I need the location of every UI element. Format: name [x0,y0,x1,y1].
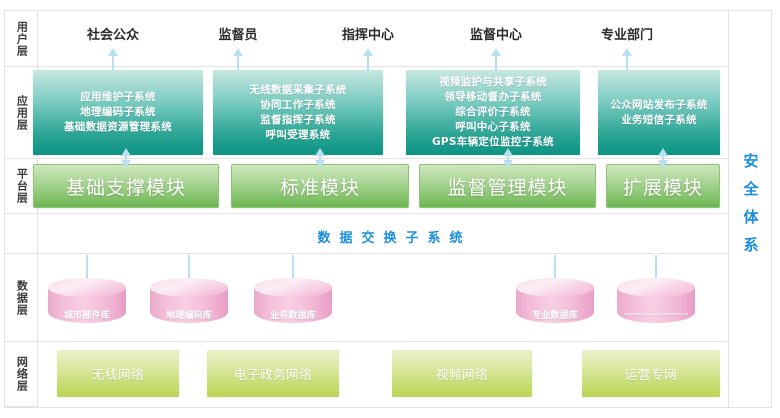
database-cylinder-3[interactable]: 专业数据库 [516,278,594,328]
application-subsystem: 呼叫中心子系统 [432,120,554,135]
application-subsystem: 地理编码子系统 [64,105,172,120]
application-subsystem: 视频监护与共享子系统 [432,75,554,90]
platform-module-label: 监督管理模块 [447,173,567,200]
application-subsystem: 无线数据采集子系统 [249,83,346,98]
database-cylinder-4[interactable]: …………………… [617,278,695,328]
application-subsystem: 协同工作子系统 [249,98,346,113]
actor-arrow-head-3 [491,48,501,56]
platform-box-3[interactable]: 扩展模块 [606,164,720,208]
application-box-items: 无线数据采集子系统协同工作子系统监督指挥子系统呼叫受理系统 [249,83,346,143]
application-subsystem: GPS车辆定位监控子系统 [432,135,554,150]
network-box-3[interactable]: 运营专网 [582,350,720,397]
actor-arrow-shaft-4 [626,56,628,70]
application-box-0[interactable]: 应用维护子系统地理编码子系统基础数据资源管理系统 [33,70,203,155]
network-box-1[interactable]: 电子政务网络 [207,350,339,397]
actor-arrow-head-1 [233,48,243,56]
application-subsystem: 公众网站发布子系统 [610,98,707,113]
actor-arrow-head-4 [622,48,632,56]
system-architecture-diagram: 用户层应用层平台层数据层网络层 安全体系 社会公众监督员指挥中心监督中心专业部门… [0,0,780,418]
platform-link-head-down-0 [121,160,131,168]
database-label: …………………… [617,308,695,317]
actor-arrow-shaft-3 [495,56,497,70]
database-label: 城市部件库 [48,308,126,321]
platform-link-head-down-3 [658,160,668,168]
platform-link-head-down-1 [315,160,325,168]
actor-arrow-head-2 [363,48,373,56]
network-label: 运营专网 [625,364,677,383]
application-box-items: 公众网站发布子系统业务短信子系统 [610,98,707,128]
actor-label-4: 专业部门 [601,24,653,43]
network-label: 视频网络 [436,364,488,383]
platform-box-2[interactable]: 监督管理模块 [419,164,596,208]
platform-box-1[interactable]: 标准模块 [231,164,409,208]
network-label: 无线网络 [92,364,144,383]
cylinder-top [254,278,332,297]
application-subsystem: 呼叫受理系统 [249,128,346,143]
platform-link-head-up-1 [315,148,325,156]
actor-arrow-head-0 [108,48,118,56]
actor-arrow-shaft-1 [237,56,239,70]
platform-module-label: 基础支撑模块 [66,173,186,200]
platform-box-0[interactable]: 基础支撑模块 [33,164,219,208]
platform-link-head-down-2 [503,160,513,168]
application-subsystem: 业务短信子系统 [610,113,707,128]
database-label: 地理编码库 [150,308,228,321]
cylinder-top [617,278,695,297]
actor-arrow-shaft-0 [112,56,114,70]
application-subsystem: 应用维护子系统 [64,90,172,105]
database-cylinder-1[interactable]: 地理编码库 [150,278,228,328]
actor-label-0: 社会公众 [87,24,139,43]
diagram-content: 社会公众监督员指挥中心监督中心专业部门应用维护子系统地理编码子系统基础数据资源管… [0,0,780,418]
application-subsystem: 基础数据资源管理系统 [64,120,172,135]
actor-label-1: 监督员 [218,24,257,43]
platform-link-head-up-0 [121,148,131,156]
application-subsystem: 领导移动督办子系统 [432,90,554,105]
data-exchange-label: 数据交换子系统 [0,227,780,246]
actor-arrow-shaft-2 [367,56,369,70]
application-box-3[interactable]: 公众网站发布子系统业务短信子系统 [598,70,720,155]
database-label: 业务数据库 [254,308,332,321]
actor-label-3: 监督中心 [470,24,522,43]
network-box-0[interactable]: 无线网络 [57,350,179,397]
application-box-items: 视频监护与共享子系统领导移动督办子系统综合评价子系统呼叫中心子系统GPS车辆定位… [432,75,554,150]
cylinder-top [516,278,594,297]
database-cylinder-0[interactable]: 城市部件库 [48,278,126,328]
platform-module-label: 扩展模块 [623,173,703,200]
application-box-2[interactable]: 视频监护与共享子系统领导移动督办子系统综合评价子系统呼叫中心子系统GPS车辆定位… [406,70,580,155]
network-label: 电子政务网络 [234,364,312,383]
platform-module-label: 标准模块 [280,173,360,200]
application-subsystem: 监督指挥子系统 [249,113,346,128]
cylinder-top [48,278,126,297]
application-subsystem: 综合评价子系统 [432,105,554,120]
platform-link-head-up-3 [658,148,668,156]
application-box-items: 应用维护子系统地理编码子系统基础数据资源管理系统 [64,90,172,135]
network-box-2[interactable]: 视频网络 [392,350,532,397]
cylinder-top [150,278,228,297]
actor-label-2: 指挥中心 [342,24,394,43]
database-label: 专业数据库 [516,308,594,321]
application-box-1[interactable]: 无线数据采集子系统协同工作子系统监督指挥子系统呼叫受理系统 [213,70,383,155]
platform-link-head-up-2 [503,148,513,156]
database-cylinder-2[interactable]: 业务数据库 [254,278,332,328]
